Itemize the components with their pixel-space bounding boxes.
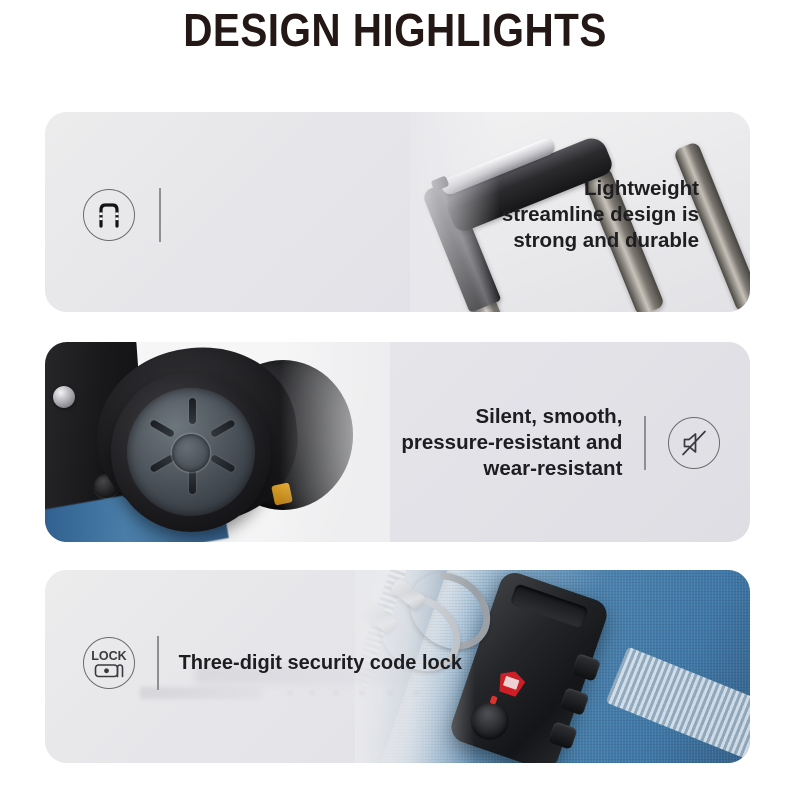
svg-text:LOCK: LOCK (91, 649, 126, 663)
highlight-panel-lock: LOCK Three-digit security code lock (45, 570, 750, 763)
highlight-info-wheel: Silent, smooth, pressure-resistant and w… (401, 404, 720, 482)
highlight-caption: Lightweight streamline design is strong … (161, 176, 713, 254)
trolley-handle-icon (83, 189, 135, 241)
wheel-center-cap (172, 434, 210, 472)
highlight-info-lock: LOCK Three-digit security code lock (83, 636, 462, 690)
photo-edge-fade (280, 342, 390, 542)
highlight-info-handle: Lightweight streamline design is strong … (83, 176, 713, 254)
info-divider (157, 636, 159, 690)
page-header: DESIGN HIGHLIGHTS (0, 6, 790, 54)
highlight-panel-wheel: Silent, smooth, pressure-resistant and w… (45, 342, 750, 542)
highlight-caption: Silent, smooth, pressure-resistant and w… (401, 404, 644, 482)
highlight-panel-handle: Lightweight streamline design is strong … (45, 112, 750, 312)
spinner-wheel-photo (45, 342, 390, 542)
combination-lock-icon: LOCK (83, 637, 135, 689)
highlight-caption: Three-digit security code lock (179, 650, 462, 676)
mute-speaker-icon (668, 417, 720, 469)
infographic-page: DESIGN HIGHLIGHTS (0, 0, 790, 790)
page-title: DESIGN HIGHLIGHTS (47, 6, 742, 54)
mounting-screw (53, 386, 75, 408)
info-divider (644, 416, 646, 470)
wheel-slot (189, 398, 196, 424)
